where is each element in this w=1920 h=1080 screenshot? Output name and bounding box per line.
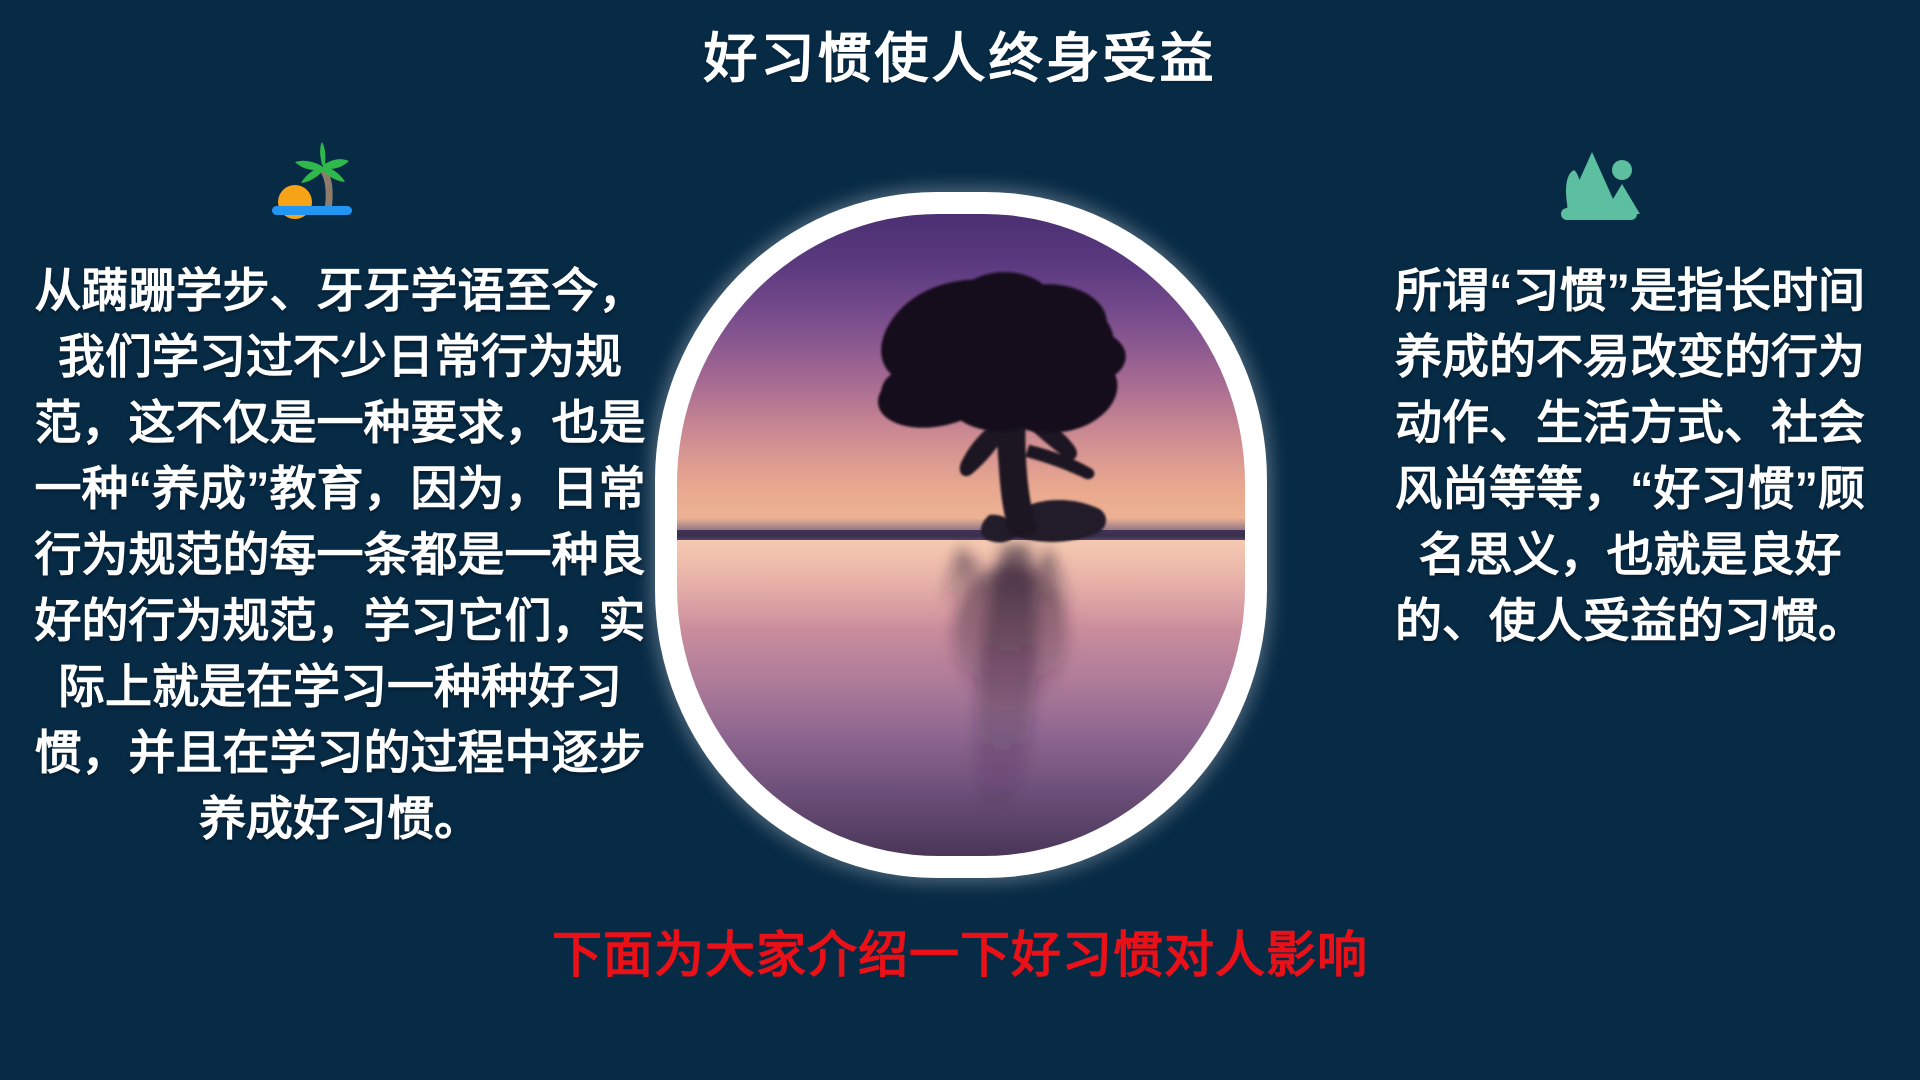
page-title: 好习惯使人终身受益 bbox=[0, 28, 1920, 90]
sunset-lone-tree-photo bbox=[677, 214, 1245, 856]
bottom-red-caption: 下面为大家介绍一下好习惯对人影响 bbox=[0, 924, 1920, 986]
left-text-column: 从蹒跚学步、牙牙学语至今，我们学习过不少日常行为规范，这不仅是一种要求，也是一种… bbox=[20, 258, 660, 852]
right-text-column: 所谓“习惯”是指长时间养成的不易改变的行为动作、生活方式、社会风尚等等，“好习惯… bbox=[1390, 258, 1870, 654]
sunset-lone-tree-photo-frame bbox=[655, 192, 1267, 878]
mountain-landscape-icon bbox=[1548, 140, 1648, 240]
slide-canvas: 好习惯使人终身受益 bbox=[0, 0, 1920, 1080]
photo-tree-silhouette bbox=[677, 214, 1245, 856]
palm-island-icon bbox=[262, 140, 362, 240]
